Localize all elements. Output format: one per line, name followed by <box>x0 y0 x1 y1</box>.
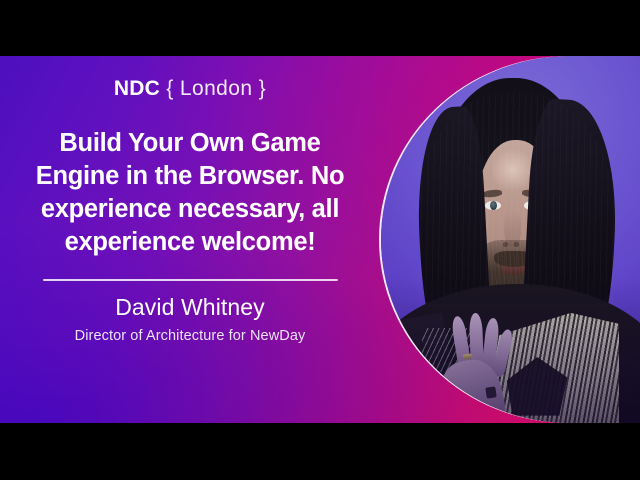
letterbox-bar-top <box>0 0 640 56</box>
speaker-role: Director of Architecture for NewDay <box>75 328 306 345</box>
conference-location: { London } <box>166 77 266 100</box>
talk-title: Build Your Own Game Engine in the Browse… <box>16 127 364 260</box>
video-frame: NDC { London } Build Your Own Game Engin… <box>0 0 640 480</box>
conference-slide: NDC { London } Build Your Own Game Engin… <box>0 56 640 423</box>
photo-vignette <box>381 56 640 423</box>
letterbox-bar-bottom <box>0 423 640 480</box>
speaker-name: David Whitney <box>115 295 265 320</box>
slide-text-column: NDC { London } Build Your Own Game Engin… <box>0 56 380 423</box>
speaker-photo <box>381 56 640 423</box>
conference-branding: NDC { London } <box>114 78 266 99</box>
conference-name: NDC <box>114 77 160 100</box>
divider-rule <box>43 279 338 281</box>
speaker-photo-image <box>381 56 640 423</box>
